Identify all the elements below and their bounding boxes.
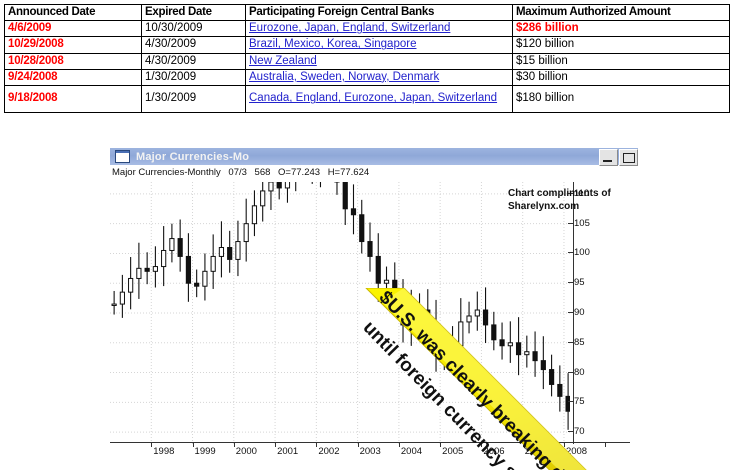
cell-expired-date: 4/30/2009 <box>142 53 246 69</box>
window-titlebar[interactable]: Major Currencies-Mo <box>110 148 638 165</box>
cell-amount: $120 billion <box>513 37 730 53</box>
banks-link[interactable]: Australia, Sweden, Norway, Denmark <box>249 71 439 83</box>
table-row: 10/28/2008 4/30/2009 New Zealand $15 bil… <box>5 53 730 69</box>
chart-window: Major Currencies-Mo Major Currencies-Mon… <box>110 148 638 470</box>
banks-link[interactable]: Brazil, Mexico, Korea, Singapore <box>249 38 416 50</box>
window-title: Major Currencies-Mo <box>136 151 249 163</box>
cell-amount: $30 billion <box>513 69 730 85</box>
cell-expired-date: 1/30/2009 <box>142 86 246 113</box>
cell-announced-date: 10/29/2008 <box>5 37 142 53</box>
cell-banks: Eurozone, Japan, England, Switzerland <box>246 21 513 37</box>
quote-line: Major Currencies-Monthly 07/3 568 O=77.2… <box>112 167 636 180</box>
table-row: 10/29/2008 4/30/2009 Brazil, Mexico, Kor… <box>5 37 730 53</box>
central-bank-swap-table: Announced Date Expired Date Participatin… <box>4 4 730 113</box>
col-max-amount: Maximum Authorized Amount <box>513 5 730 21</box>
window-controls <box>599 149 638 166</box>
cell-amount: $286 billion <box>513 21 730 37</box>
amount-value: $286 billion <box>516 22 579 34</box>
table-row: 9/18/2008 1/30/2009 Canada, England, Eur… <box>5 86 730 113</box>
window-icon <box>115 150 130 163</box>
table-header-row: Announced Date Expired Date Participatin… <box>5 5 730 21</box>
quote-open: O=77.243 <box>278 167 320 178</box>
cell-announced-date: 9/18/2008 <box>5 86 142 113</box>
chart-credit: Chart compliments of Sharelynx.com <box>508 188 638 213</box>
y-axis-tick: 100 <box>568 247 590 258</box>
y-axis-tick: 105 <box>568 218 590 229</box>
banks-link[interactable]: Eurozone, Japan, England, Switzerland <box>249 22 450 34</box>
banks-link[interactable]: New Zealand <box>249 55 317 67</box>
quote-last: 568 <box>255 167 271 178</box>
y-axis-tick: 95 <box>568 277 585 288</box>
cell-announced-date: 10/28/2008 <box>5 53 142 69</box>
table-row: 9/24/2008 1/30/2009 Australia, Sweden, N… <box>5 69 730 85</box>
maximize-button[interactable] <box>619 149 638 166</box>
col-announced-date: Announced Date <box>5 5 142 21</box>
cell-expired-date: 10/30/2009 <box>142 21 246 37</box>
banks-link[interactable]: Canada, England, Eurozone, Japan, Switze… <box>249 92 497 104</box>
cell-amount: $180 billion <box>513 86 730 113</box>
col-participating-banks: Participating Foreign Central Banks <box>246 5 513 21</box>
cell-expired-date: 4/30/2009 <box>142 37 246 53</box>
quote-date: 07/3 <box>228 167 247 178</box>
cell-expired-date: 1/30/2009 <box>142 69 246 85</box>
cell-banks: Canada, England, Eurozone, Japan, Switze… <box>246 86 513 113</box>
cell-announced-date: 4/6/2009 <box>5 21 142 37</box>
announced-date-value: 9/18/2008 <box>8 92 57 104</box>
announced-date-value: 10/29/2008 <box>8 38 64 50</box>
cell-banks: New Zealand <box>246 53 513 69</box>
table-row: 4/6/2009 10/30/2009 Eurozone, Japan, Eng… <box>5 21 730 37</box>
announced-date-value: 4/6/2009 <box>8 22 51 34</box>
announced-date-value: 10/28/2008 <box>8 55 64 67</box>
cell-announced-date: 9/24/2008 <box>5 69 142 85</box>
col-expired-date: Expired Date <box>142 5 246 21</box>
announced-date-value: 9/24/2008 <box>8 71 57 83</box>
minimize-button[interactable] <box>599 149 618 166</box>
cell-banks: Brazil, Mexico, Korea, Singapore <box>246 37 513 53</box>
quote-symbol: Major Currencies-Monthly <box>112 167 221 178</box>
callout-arrow-yellow: $U.S. was clearly breaking down until fo… <box>360 288 638 470</box>
quote-high: H=77.624 <box>328 167 369 178</box>
cell-banks: Australia, Sweden, Norway, Denmark <box>246 69 513 85</box>
cell-amount: $15 billion <box>513 53 730 69</box>
